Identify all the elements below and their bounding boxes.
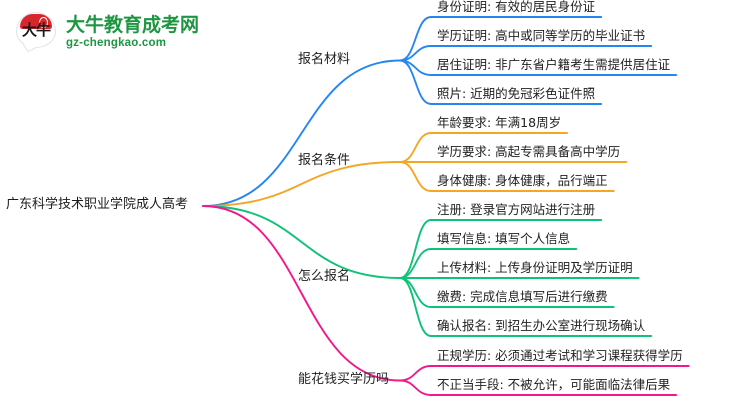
mindmap-leaf-label: 不正当手段: 不被允许，可能面临法律后果 [437, 377, 670, 393]
mindmap-leaf-label: 上传材料: 上传身份证明及学历证明 [437, 260, 633, 276]
mindmap-branch-label: 能花钱买学历吗 [298, 372, 389, 388]
mindmap-leaf-label: 填写信息: 填写个人信息 [437, 231, 570, 247]
mindmap-leaf-label: 确认报名: 到招生办公室进行现场确认 [437, 318, 645, 334]
mindmap-leaf-label: 学历证明: 高中或同等学历的毕业证书 [437, 28, 645, 44]
mindmap-branch-label: 报名材料 [298, 52, 350, 68]
mindmap-branch-label: 怎么报名 [298, 269, 350, 285]
mindmap-leaf-label: 学历要求: 高起专需具备高中学历 [437, 144, 620, 160]
mindmap-leaf-label: 照片: 近期的免冠彩色证件照 [437, 86, 595, 102]
mindmap-leaf-label: 缴费: 完成信息填写后进行缴费 [437, 289, 608, 305]
mindmap-leaf-label: 身份证明: 有效的居民身份证 [437, 0, 595, 15]
mindmap-leaf-label: 年龄要求: 年满18周岁 [437, 115, 561, 131]
mindmap-leaf-label: 身体健康: 身体健康，品行端正 [437, 173, 608, 189]
mindmap-branch-label: 报名条件 [298, 153, 350, 169]
mindmap-leaf-label: 注册: 登录官方网站进行注册 [437, 202, 595, 218]
mindmap-root-label: 广东科学技术职业学院成人高考 [6, 197, 188, 213]
connector-curve [203, 206, 400, 278]
connector-curve [203, 206, 400, 381]
mindmap-leaf-label: 正规学历: 必须通过考试和学习课程获得学历 [437, 348, 683, 364]
mindmap-leaf-label: 居住证明: 非广东省户籍考生需提供居住证 [437, 57, 670, 73]
